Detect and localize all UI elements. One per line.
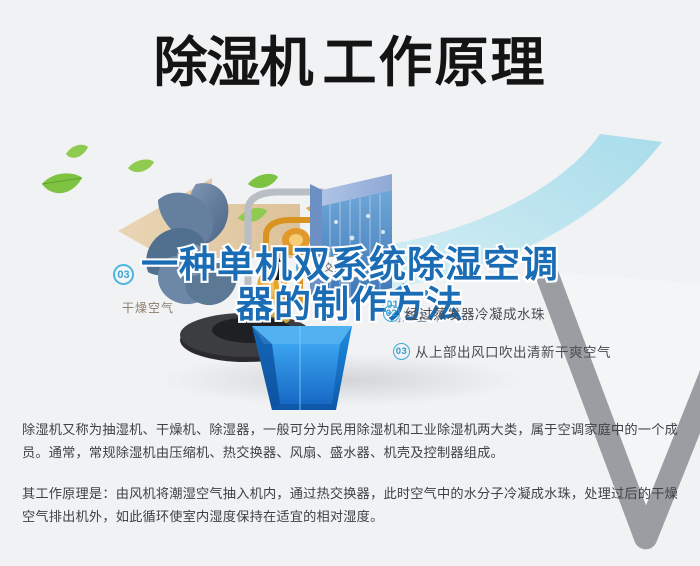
page-title: 除湿机工作原理: [0, 18, 700, 108]
title-part-a: 除湿机: [154, 33, 313, 93]
body-paragraph-2: 其工作原理是：由风机将潮湿空气抽入机内，通过热交换器，此时空气中的水分子冷凝成水…: [22, 482, 682, 528]
caption-step-02-text: 经过蒸发器冷凝成水珠: [405, 303, 545, 323]
humid-air-arrow: [392, 134, 662, 288]
badge-03-diagram: 03: [113, 264, 134, 285]
body-paragraph-1: 除湿机又称为抽湿机、干燥机、除湿器，一般可分为民用除湿机和工业除湿机两大类，属于…: [22, 418, 682, 464]
caption-step-03-text: 从上部出风口吹出清新干爽空气: [415, 341, 611, 361]
leaf-icon: [66, 145, 88, 158]
badge-02-caption: 02: [383, 305, 400, 322]
title-text: 除湿机工作原理: [154, 36, 547, 90]
infographic-page: 除湿机工作原理: [0, 0, 700, 566]
caption-step-03: 03 从上部出风口吹出清新干爽空气: [393, 341, 611, 361]
title-part-b: 工作原理: [323, 33, 547, 93]
badge-03-caption: 03: [393, 343, 410, 360]
dehumidifier-diagram: 干燥空气 潮湿空气 水箱 03 02 01 热交换器: [0, 112, 700, 412]
caption-step-02: 02 经过蒸发器冷凝成水珠: [383, 303, 545, 323]
leaf-icon: [248, 174, 278, 188]
body-copy: 除湿机又称为抽湿机、干燥机、除湿器，一般可分为民用除湿机和工业除湿机两大类，属于…: [22, 418, 682, 528]
label-dry-air: 干燥空气: [122, 299, 174, 316]
leaf-icon: [128, 160, 154, 173]
